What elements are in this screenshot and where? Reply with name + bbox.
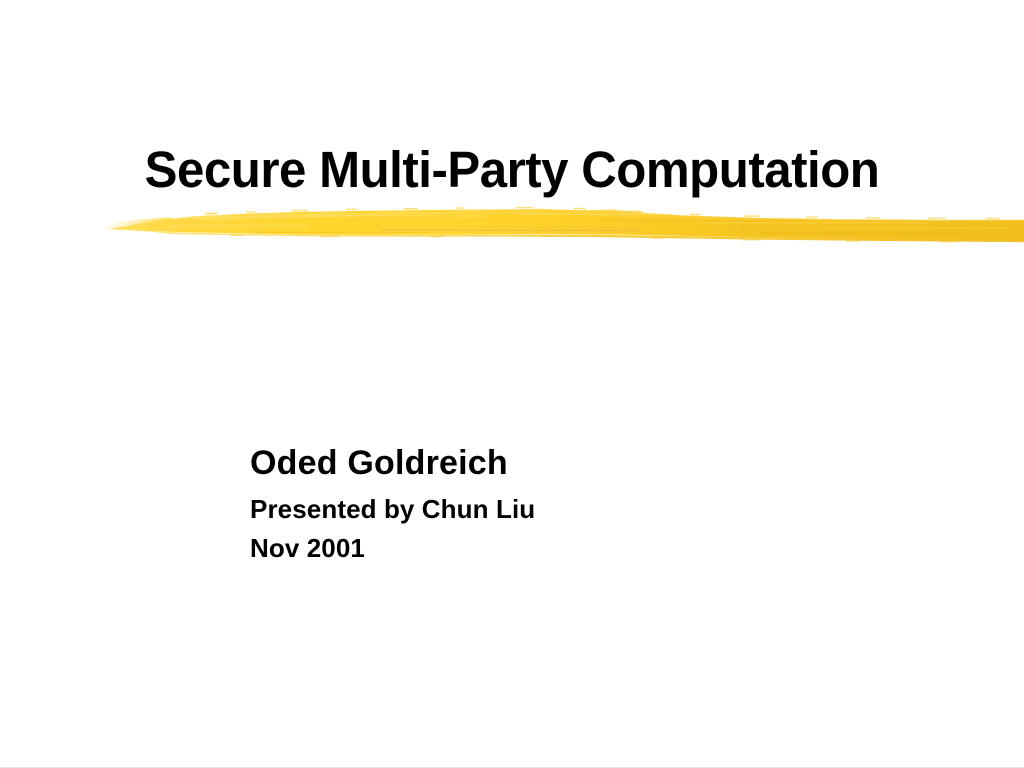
brush-stroke-decoration <box>0 196 1024 252</box>
date-line: Nov 2001 <box>250 529 950 568</box>
presenter-line: Presented by Chun Liu <box>250 490 950 529</box>
yellow-brush-stroke-icon <box>0 196 1024 252</box>
author-block: Oded Goldreich Presented by Chun Liu Nov… <box>250 442 950 568</box>
page-title: Secure Multi-Party Computation <box>18 140 1006 200</box>
author-name: Oded Goldreich <box>250 442 950 484</box>
slide-canvas: Secure Multi-Party Computation <box>0 0 1024 768</box>
